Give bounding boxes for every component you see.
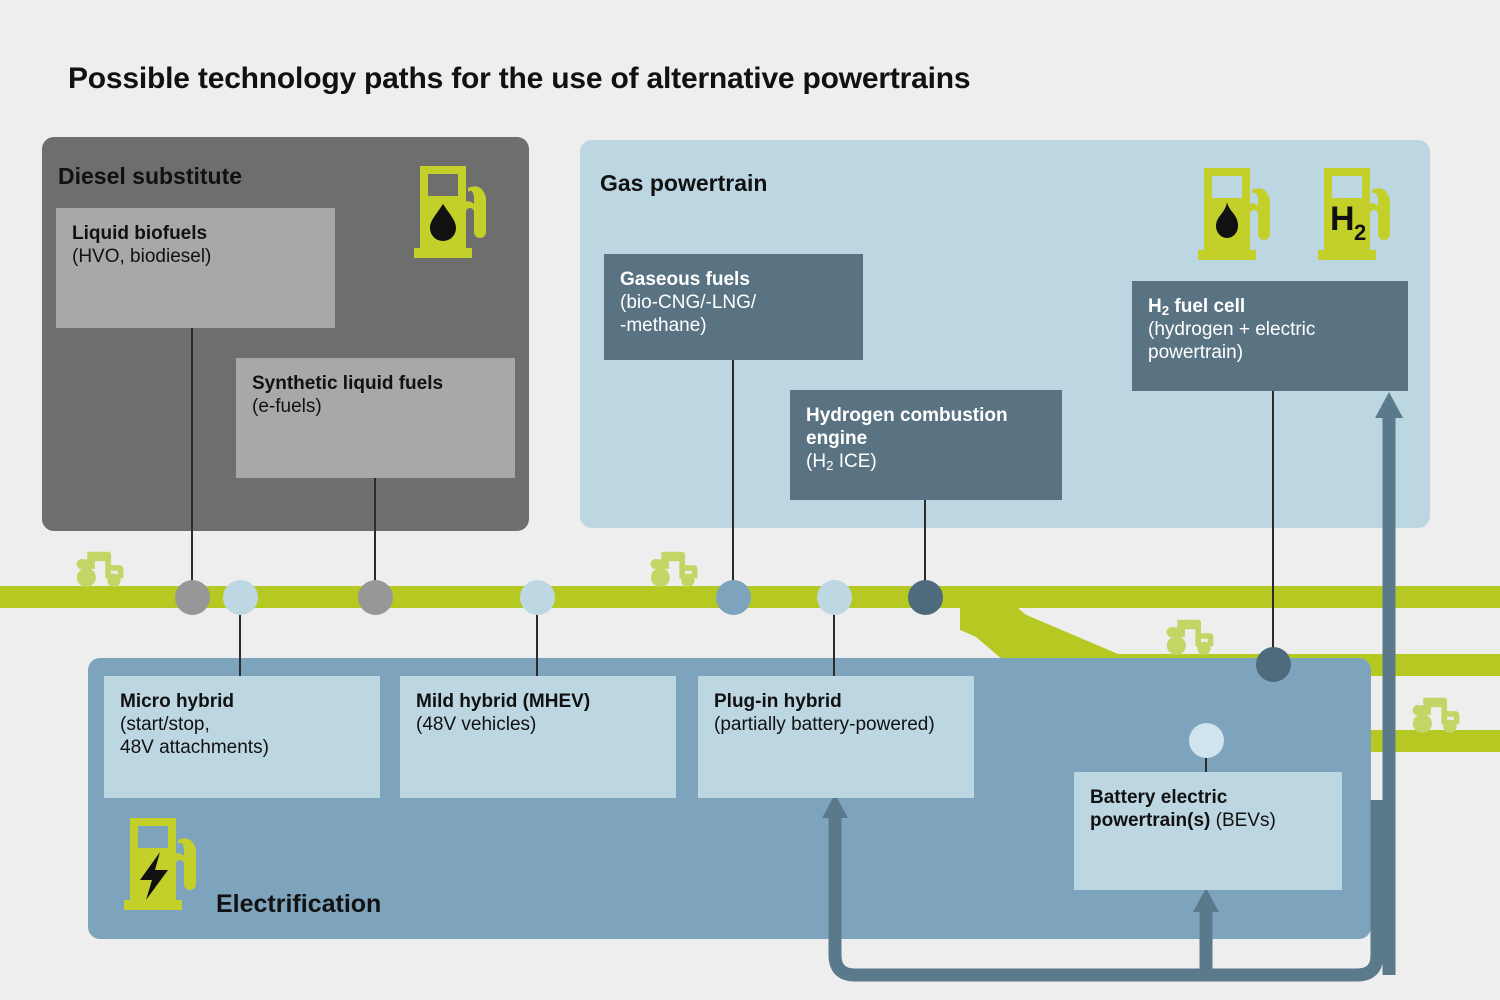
h2-subscript: 2 <box>1354 220 1366 245</box>
card-headline: Plug-in hybrid <box>714 690 958 713</box>
card-hydrogen-combustion-engine[interactable]: Hydrogen combustion engine (H2 ICE) <box>790 390 1062 500</box>
card-headline: Liquid biofuels <box>72 222 319 245</box>
card-liquid-biofuels[interactable]: Liquid biofuels (HVO, biodiesel) <box>56 208 335 328</box>
card-headline: Synthetic liquid fuels <box>252 372 499 395</box>
group-title-gas: Gas powertrain <box>600 170 767 197</box>
card-sub: (partially battery-powered) <box>714 713 958 736</box>
h2-label: H <box>1330 200 1355 238</box>
card-headline: Micro hybrid <box>120 690 364 713</box>
card-gaseous-fuels[interactable]: Gaseous fuels (bio-CNG/-LNG/ -methane) <box>604 254 863 360</box>
card-headline: Mild hybrid (MHEV) <box>416 690 660 713</box>
card-battery-electric-powertrain[interactable]: Battery electric powertrain(s) (BEVs) <box>1074 772 1342 890</box>
fuel-pump-electric-icon <box>118 812 218 917</box>
card-sub: (HVO, biodiesel) <box>72 245 319 268</box>
card-plugin-hybrid[interactable]: Plug-in hybrid (partially battery-powere… <box>698 676 974 798</box>
card-sub-line1: (start/stop, <box>120 713 364 736</box>
page-title: Possible technology paths for the use of… <box>68 62 970 96</box>
card-h2-fuel-cell[interactable]: H2 fuel cell (hydrogen + electric powert… <box>1132 281 1408 391</box>
card-headline: Gaseous fuels <box>620 268 847 291</box>
card-sub-line1: (bio-CNG/-LNG/ <box>620 291 847 314</box>
card-headline-line2: engine <box>806 427 1046 450</box>
card-headline-line1: Hydrogen combustion <box>806 404 1046 427</box>
card-headline: H2 fuel cell <box>1148 295 1392 318</box>
card-synthetic-liquid-fuels[interactable]: Synthetic liquid fuels (e-fuels) <box>236 358 515 478</box>
fuel-pump-gas-icon <box>1192 162 1292 267</box>
card-sub: (e-fuels) <box>252 395 499 418</box>
card-sub: (48V vehicles) <box>416 713 660 736</box>
group-title-electrification: Electrification <box>216 890 381 919</box>
card-sub-line2: -methane) <box>620 314 847 337</box>
card-sub-line2: powertrain) <box>1148 341 1392 364</box>
card-headline-line1: Battery electric <box>1090 786 1326 809</box>
card-headline-line2: powertrain(s) (BEVs) <box>1090 809 1326 832</box>
card-sub: (H2 ICE) <box>806 450 1046 473</box>
group-title-diesel: Diesel substitute <box>58 163 242 190</box>
fuel-pump-h2-icon: H 2 <box>1312 162 1412 267</box>
card-mild-hybrid[interactable]: Mild hybrid (MHEV) (48V vehicles) <box>400 676 676 798</box>
card-sub-line1: (hydrogen + electric <box>1148 318 1392 341</box>
card-micro-hybrid[interactable]: Micro hybrid (start/stop, 48V attachment… <box>104 676 380 798</box>
fuel-pump-diesel-icon <box>408 160 508 265</box>
card-sub-line2: 48V attachments) <box>120 736 364 759</box>
